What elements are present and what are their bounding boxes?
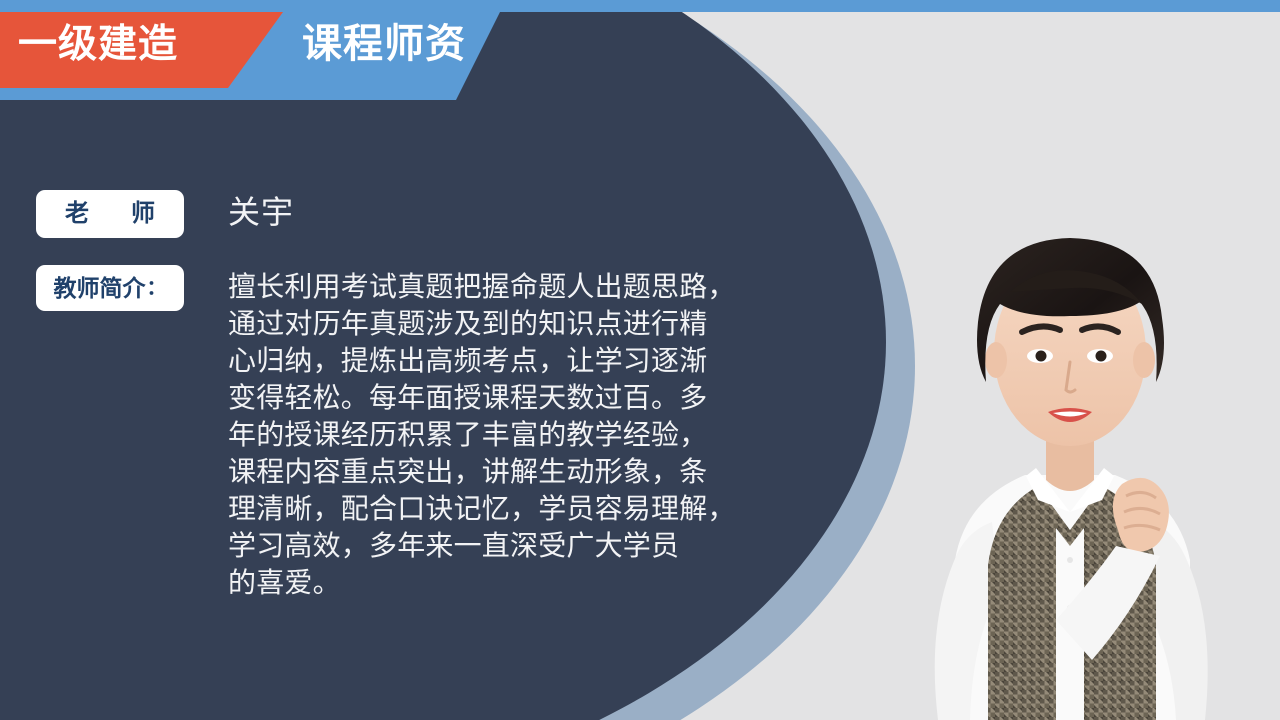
bio-text-line: 擅长利用考试真题把握命题人出题思路， xyxy=(228,268,776,305)
slide-root: 一级建造 课程师资 老 师 关宇 教师简介 ： 擅长利用考试真题把握命题人出题思… xyxy=(0,0,1280,720)
bio-label-colon: ： xyxy=(147,278,167,298)
slide-content: 老 师 关宇 教师简介 ： 擅长利用考试真题把握命题人出题思路，通过对历年真题涉… xyxy=(0,0,1280,720)
bio-text-line: 课程内容重点突出，讲解生动形象，条 xyxy=(228,453,776,490)
teacher-label-last: 师 xyxy=(131,202,155,226)
bio-text-line: 理清晰，配合口诀记忆，学员容易理解， xyxy=(228,490,776,527)
bio-text-line: 学习高效，多年来一直深受广大学员 xyxy=(228,527,776,564)
bio-label-tag: 教师简介 ： xyxy=(36,265,184,311)
bio-text-line: 心归纳，提炼出高频考点，让学习逐渐 xyxy=(228,342,776,379)
top-banner xyxy=(0,0,1280,104)
teacher-name-value: 关宇 xyxy=(228,193,294,231)
banner-blue-top-strip xyxy=(0,0,1280,12)
bio-text-value: 擅长利用考试真题把握命题人出题思路，通过对历年真题涉及到的知识点进行精心归纳，提… xyxy=(228,268,776,601)
bio-text-line: 变得轻松。每年面授课程天数过百。多 xyxy=(228,379,776,416)
teacher-label-tag: 老 师 xyxy=(36,190,184,238)
bio-text-line: 年的授课经历积累了丰富的教学经验， xyxy=(228,416,776,453)
bio-label-text: 教师简介 xyxy=(54,277,146,300)
bio-text-line: 的喜爱。 xyxy=(228,564,776,601)
teacher-row: 老 师 xyxy=(36,190,184,238)
teacher-label-first: 老 xyxy=(65,202,89,226)
bio-text-line: 通过对历年真题涉及到的知识点进行精 xyxy=(228,305,776,342)
bio-row: 教师简介 ： xyxy=(36,265,184,311)
